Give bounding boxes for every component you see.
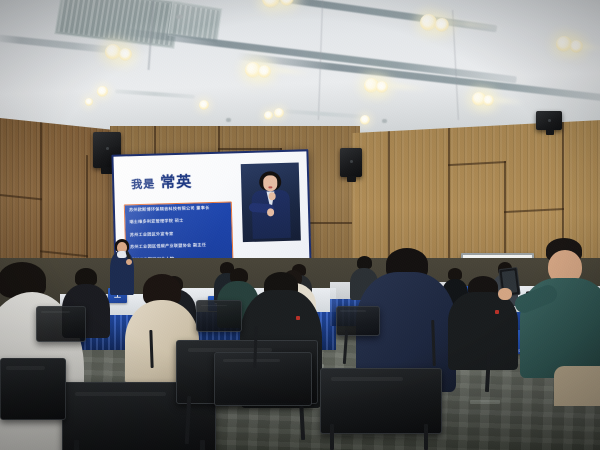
projection-screen: 我是常英 苏州欧斯博环保隔音科技有限公司 董事长 瑞士维多利亚管理学院 硕士 苏… <box>111 149 311 271</box>
slide-portrait-image <box>241 163 301 243</box>
ceiling-beam <box>119 28 517 84</box>
speaker-bracket <box>546 129 554 135</box>
sprinkler-head <box>176 15 183 19</box>
conference-room-photo: 我是常英 苏州欧斯博环保隔音科技有限公司 董事长 瑞士维多利亚管理学院 硕士 苏… <box>0 0 600 450</box>
wall-seam <box>40 250 88 257</box>
portrait-hand <box>267 208 274 216</box>
presenter-hand <box>126 259 132 265</box>
attendee-trousers <box>554 366 600 406</box>
slide-bullet: 瑞士维多利亚管理学院 硕士 <box>129 218 227 225</box>
chair-leg <box>424 424 428 450</box>
jacket-logo <box>495 310 499 314</box>
ceiling-light <box>264 111 273 120</box>
wall-seam <box>504 208 564 213</box>
chair-leg <box>74 440 79 450</box>
slide-bullet-box: 苏州欧斯博环保隔音科技有限公司 董事长 瑞士维多利亚管理学院 硕士 苏州工业园区… <box>124 201 234 266</box>
screen-surface: 我是常英 苏州欧斯博环保隔音科技有限公司 董事长 瑞士维多利亚管理学院 硕士 苏… <box>113 151 309 269</box>
ceiling-light <box>199 100 209 110</box>
wall-seam <box>448 161 506 166</box>
portrait-hand <box>269 192 276 200</box>
slide-bullet: 苏州工业园区低碳产业联盟协会 副主任 <box>130 243 228 250</box>
ceiling-rail <box>115 89 195 99</box>
ceiling-panel-line <box>318 0 323 120</box>
sprinkler-head <box>382 119 387 123</box>
chair-back-right[interactable] <box>214 352 312 406</box>
chair-leg <box>330 424 334 450</box>
attendee-near-right-puffer <box>448 292 518 370</box>
attendee-puffer-jacket <box>448 292 518 370</box>
chair-back-far-right[interactable] <box>336 306 380 336</box>
slide-title-name: 常英 <box>160 173 193 192</box>
ceiling-beam <box>237 53 600 103</box>
carpet-fleck <box>470 400 500 404</box>
slide-title-prefix: 我是 <box>131 178 155 192</box>
wall-speaker-center <box>340 148 362 177</box>
ceiling-light <box>262 0 280 8</box>
jacket-logo <box>296 316 300 320</box>
ceiling-light <box>97 86 108 97</box>
chair-back-left-mid[interactable] <box>0 358 66 420</box>
slide-bullet: 苏州欧斯博环保隔音科技有限公司 董事长 <box>129 206 227 213</box>
ceiling-rail <box>285 109 363 118</box>
attendee-near-teal-phone-user[interactable] <box>520 238 600 378</box>
ceiling-light <box>85 98 93 106</box>
chair-back-far-center[interactable] <box>196 300 242 332</box>
chair-back-far-left[interactable] <box>36 306 86 342</box>
slide-title: 我是常英 <box>131 171 193 194</box>
attendee-hand <box>498 288 512 300</box>
portrait-face <box>263 175 277 191</box>
slide-bullet: 苏州工业园区外宣专家 <box>130 230 228 237</box>
portrait-lips <box>268 186 272 188</box>
chair-leg <box>200 440 205 450</box>
speaker-bracket <box>347 176 356 182</box>
ceiling-light <box>274 108 284 118</box>
ceiling-light <box>280 0 294 6</box>
ceiling-light <box>360 115 370 125</box>
ceiling-light <box>119 48 132 61</box>
wall-speaker-right <box>536 111 562 130</box>
sprinkler-head <box>226 118 231 122</box>
wall-seam <box>0 194 42 200</box>
